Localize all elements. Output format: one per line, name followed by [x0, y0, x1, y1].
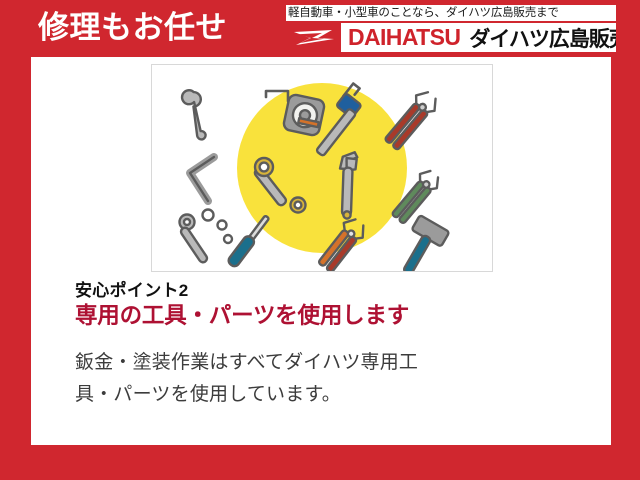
mallet-icon	[392, 215, 450, 271]
text-block: 安心ポイント2 専用の工具・パーツを使用します 鈑金・塗装作業はすべてダイハツ専…	[49, 279, 593, 411]
headline: 専用の工具・パーツを使用します	[49, 303, 425, 329]
content-panel: 安心ポイント2 専用の工具・パーツを使用します 鈑金・塗装作業はすべてダイハツ専…	[31, 57, 611, 445]
logo-bar: DAIHATSU ダイハツ広島販売	[286, 23, 616, 52]
slide-root: 修理もお任せ 軽自動車・小型車のことなら、ダイハツ広島販売まで DAIHATSU…	[0, 0, 640, 480]
open-end-wrench-icon	[167, 87, 223, 141]
dealer-logo-block: 軽自動車・小型車のことなら、ダイハツ広島販売まで DAIHATSU ダイハツ広島…	[286, 5, 616, 52]
hex-key-icon	[190, 157, 214, 201]
point-label: 安心ポイント2	[49, 279, 593, 303]
screwdriver-icon	[227, 214, 272, 269]
logo-wordmark: DAIHATSU	[341, 23, 460, 52]
daihatsu-d-emblem-icon	[286, 23, 341, 52]
logo-dealer-name: ダイハツ広島販売	[460, 23, 616, 52]
body-copy: 鈑金・塗装作業はすべてダイハツ専用工具・パーツを使用しています。	[49, 347, 425, 411]
page-title: 修理もお任せ	[38, 8, 227, 48]
tools-illustration	[151, 64, 493, 272]
header-bar: 修理もお任せ 軽自動車・小型車のことなら、ダイハツ広島販売まで DAIHATSU…	[0, 0, 640, 57]
socket-wrench-icon	[179, 210, 232, 264]
logo-tagline: 軽自動車・小型車のことなら、ダイハツ広島販売まで	[286, 5, 616, 21]
